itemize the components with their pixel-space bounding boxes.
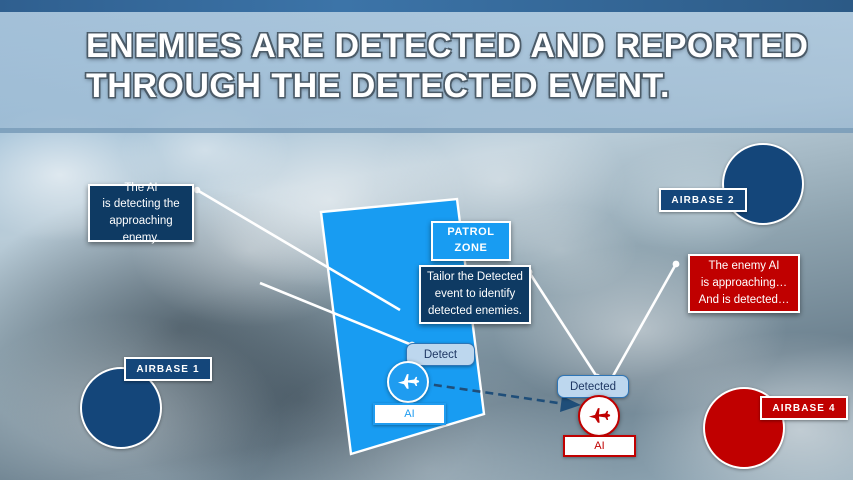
detect-event-label: Detect	[424, 349, 457, 361]
callout-tailor-line-2: event to identify	[435, 286, 516, 303]
friendly-agent-label-text: AI	[404, 408, 414, 420]
airbase-4-label-text: AIRBASE 4	[772, 403, 835, 414]
callout-enemy-line-3: And is detected…	[699, 292, 790, 309]
airbase-4-label[interactable]: AIRBASE 4	[760, 396, 848, 420]
airbase-2-marker[interactable]	[722, 143, 804, 225]
enemy-agent-label-text: AI	[594, 440, 604, 452]
leader-dot-ai-detecting	[194, 187, 200, 193]
patrol-zone-label-line-1: PATROL	[447, 225, 494, 241]
callout-tailor-line-1: Tailor the Detected	[427, 269, 523, 286]
enemy-agent-marker[interactable]	[578, 395, 620, 437]
jet-fighter-icon	[586, 403, 613, 430]
airbase-1-label[interactable]: AIRBASE 1	[124, 357, 212, 381]
airbase-2-label[interactable]: AIRBASE 2	[659, 188, 747, 212]
detected-event-label: Detected	[570, 381, 616, 393]
callout-ai-detecting[interactable]: The AI is detecting the approaching enem…	[88, 184, 194, 242]
patrol-zone-label[interactable]: PATROL ZONE	[431, 221, 511, 261]
leader-line-tailor	[529, 272, 597, 377]
callout-ai-detecting-line-3: approaching enemy.	[90, 213, 192, 246]
friendly-agent-label[interactable]: AI	[373, 403, 446, 425]
callout-enemy-line-1: The enemy AI	[709, 258, 780, 275]
slide-canvas: ENEMIES ARE DETECTED AND REPORTED THROUG…	[0, 0, 853, 480]
patrol-zone-label-line-2: ZONE	[455, 241, 488, 257]
enemy-agent-label[interactable]: AI	[563, 435, 636, 457]
callout-tailor-line-3: detected enemies.	[428, 303, 522, 320]
callout-ai-detecting-line-2: is detecting the	[102, 196, 179, 213]
leader-dot-enemy	[673, 261, 680, 268]
leader-line-enemy	[613, 264, 676, 376]
friendly-agent-marker[interactable]	[387, 361, 429, 403]
callout-tailor-detected[interactable]: Tailor the Detected event to identify de…	[419, 265, 531, 324]
detected-event-pill[interactable]: Detected	[557, 375, 629, 398]
airbase-1-label-text: AIRBASE 1	[136, 364, 199, 375]
airbase-2-label-text: AIRBASE 2	[671, 195, 734, 206]
jet-fighter-icon	[395, 369, 422, 396]
callout-enemy-line-2: is approaching…	[701, 275, 787, 292]
callout-enemy-approaching[interactable]: The enemy AI is approaching… And is dete…	[688, 254, 800, 313]
callout-ai-detecting-line-1: The AI	[124, 180, 157, 197]
